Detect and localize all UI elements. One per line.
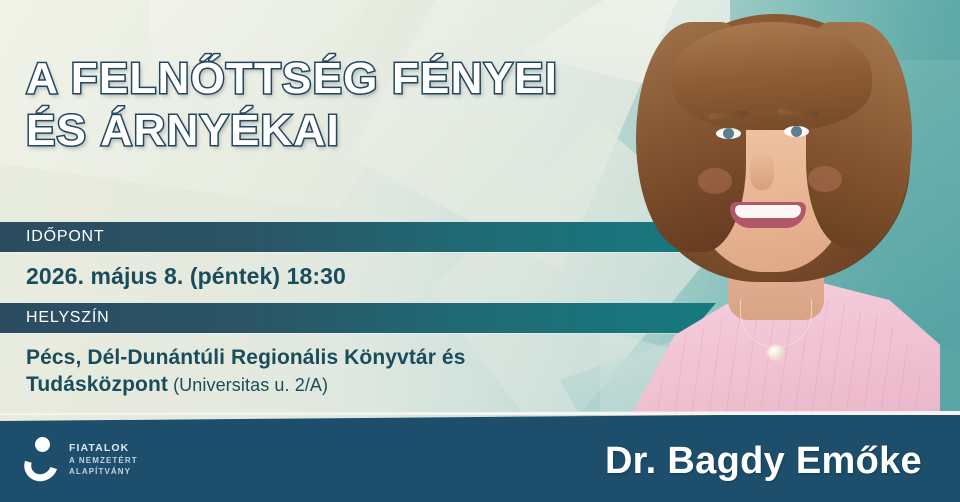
- logo-line-1: FIATALOK: [69, 442, 138, 454]
- logo-line-3: ALAPÍTVÁNY: [69, 467, 138, 476]
- portrait-iris: [791, 126, 802, 137]
- foundation-logo-text: FIATALOK A NEMZETÉRT ALAPÍTVÁNY: [69, 442, 138, 476]
- portrait-iris: [723, 128, 734, 139]
- necklace-pendant: [768, 346, 783, 359]
- portrait-cheek: [808, 166, 842, 192]
- venue-address: (Universitas u. 2/A): [168, 375, 328, 395]
- portrait-hair-fringe: [672, 22, 872, 130]
- portrait-mouth: [730, 202, 806, 228]
- speaker-name: Dr. Bagdy Emőke: [605, 440, 922, 483]
- portrait-teeth: [735, 205, 801, 218]
- figure-body-icon: [18, 443, 63, 487]
- poster-footer: FIATALOK A NEMZETÉRT ALAPÍTVÁNY Dr. Bagd…: [0, 413, 960, 502]
- title-line-2: ÉS ÁRNYÉKAI: [26, 108, 558, 155]
- venue-name: Tudásközpont: [26, 373, 168, 396]
- date-label: IDŐPONT: [0, 228, 105, 246]
- venue-label: HELYSZÍN: [0, 309, 109, 327]
- person-figure-icon: [22, 437, 60, 481]
- event-poster: A FELNŐTTSÉG FÉNYEI ÉS ÁRNYÉKAI IDŐPONT …: [0, 0, 960, 502]
- poster-title: A FELNŐTTSÉG FÉNYEI ÉS ÁRNYÉKAI: [26, 56, 558, 154]
- title-line-1: A FELNŐTTSÉG FÉNYEI: [26, 56, 558, 103]
- speaker-portrait: [580, 0, 960, 420]
- portrait-nose: [750, 150, 774, 190]
- foundation-logo: FIATALOK A NEMZETÉRT ALAPÍTVÁNY: [22, 437, 138, 481]
- logo-line-2: A NEMZETÉRT: [69, 456, 138, 465]
- portrait-cheek: [698, 168, 732, 194]
